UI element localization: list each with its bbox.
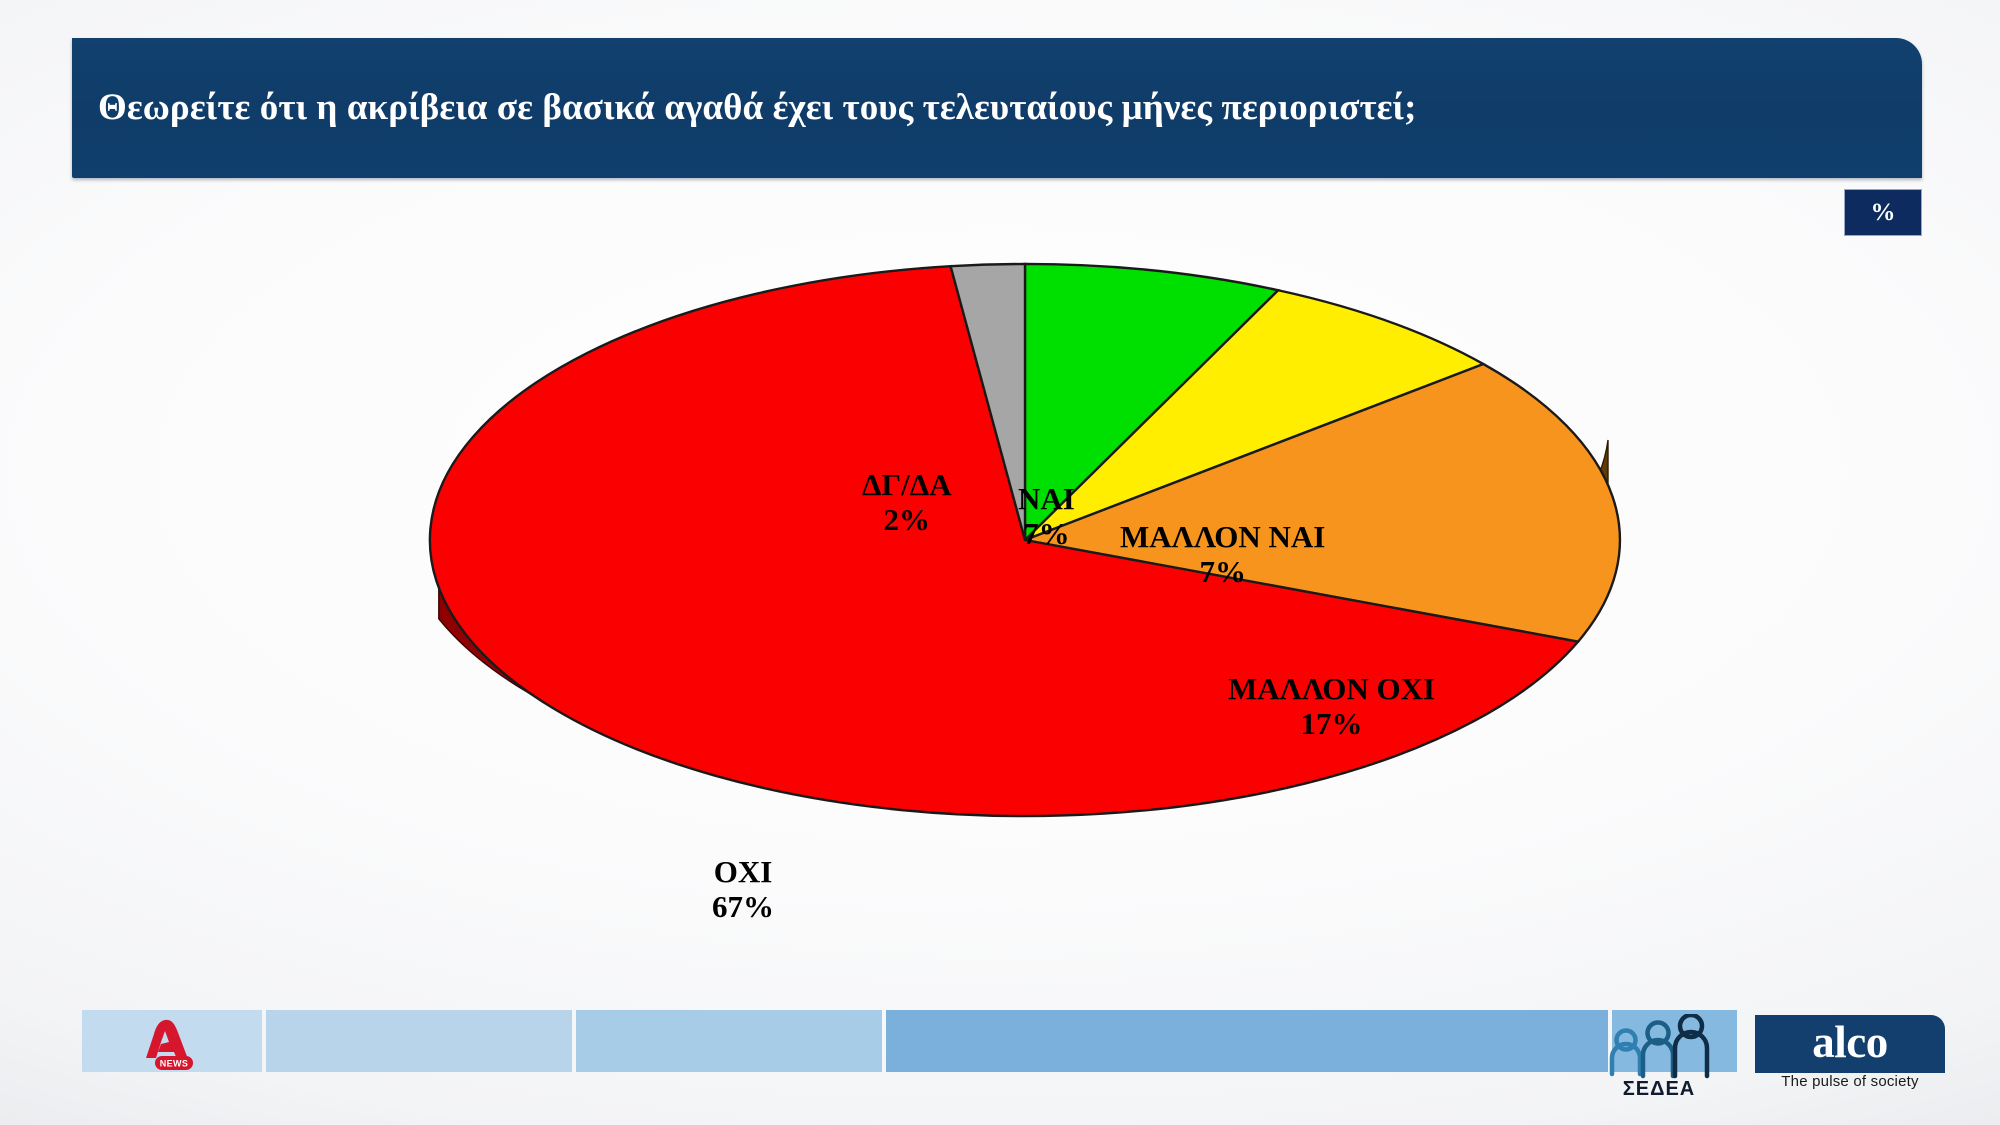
alpha-news-label: NEWS [160, 1058, 189, 1068]
sedea-label: ΣΕΔΕΑ [1596, 1078, 1722, 1101]
pie-chart: ΔΓ/ΔΑ 2% ΝΑΙ 7% ΜΑΛΛΟΝ ΝΑΙ 7% ΜΑΛΛΟΝ ΟΧΙ… [0, 200, 2000, 940]
footer-bar: NEWS ΣΕΔΕΑ alco The pulse of society [0, 1010, 2000, 1125]
alco-wordmark: alco [1755, 1015, 1945, 1073]
footer-segment-4 [886, 1010, 1608, 1072]
footer-segment-3 [576, 1010, 882, 1072]
title-banner: Θεωρείτε ότι η ακρίβεια σε βασικά αγαθά … [72, 38, 1922, 178]
alpha-news-logo-icon: NEWS [139, 1018, 209, 1070]
footer-segment-2 [266, 1010, 572, 1072]
alco-logo: alco The pulse of society [1755, 1015, 1945, 1095]
page-title: Θεωρείτε ότι η ακρίβεια σε βασικά αγαθά … [98, 38, 1892, 178]
alco-tagline: The pulse of society [1755, 1073, 1945, 1090]
pie-chart-svg [380, 200, 1680, 920]
sedea-people-icon [1596, 1014, 1722, 1088]
slide-root: Θεωρείτε ότι η ακρίβεια σε βασικά αγαθά … [0, 0, 2000, 1125]
pie-top-faces [430, 264, 1620, 816]
